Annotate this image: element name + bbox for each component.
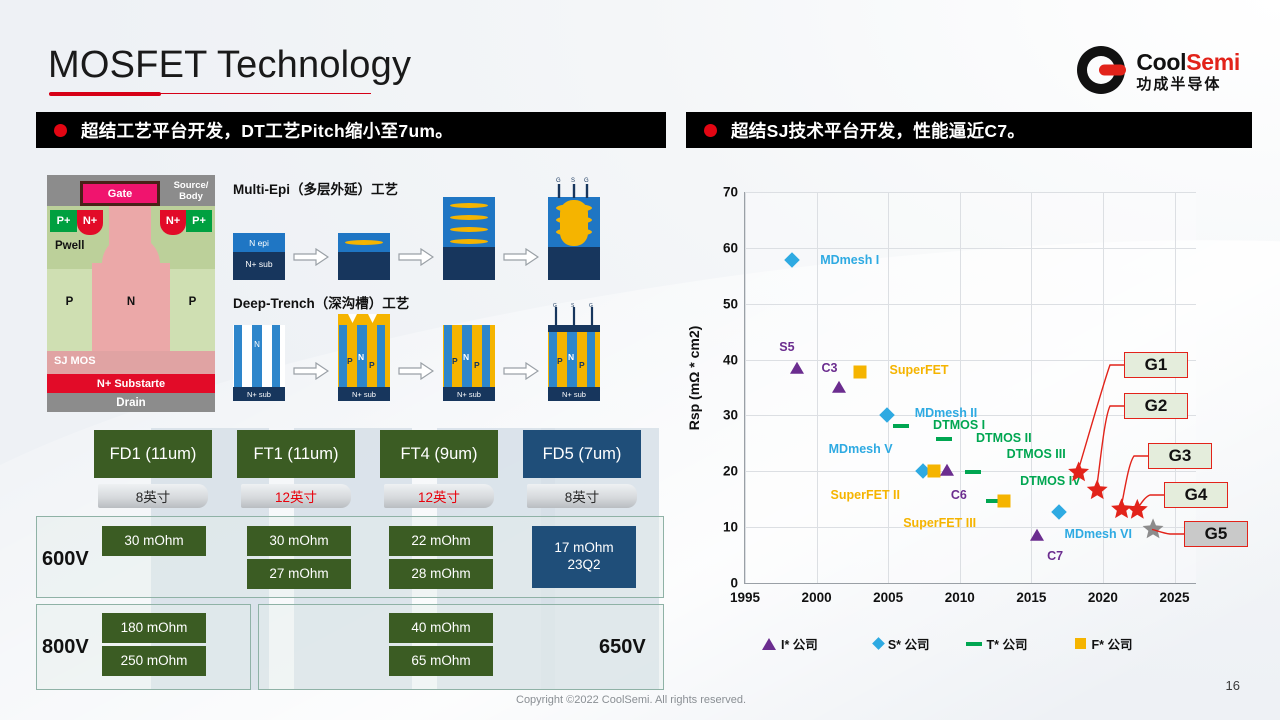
cell-value: 40 mOhm	[411, 620, 470, 637]
flow-arrow-icon	[293, 248, 329, 266]
flow-arrow-icon	[293, 362, 329, 380]
dt-label-p: P	[369, 360, 375, 370]
highlight-star-g2-icon	[1087, 479, 1108, 499]
chart-y-tick: 50	[723, 296, 738, 311]
flow-arrow-icon	[503, 248, 539, 266]
slide: MOSFET Technology CoolSemi 功成半导体 超结工艺平台开…	[0, 0, 1280, 720]
cell-value: 30 mOhm	[124, 533, 183, 550]
multi-epi-label-n-epi: N epi	[233, 235, 285, 250]
dt-label-n-sub: N+ sub	[338, 387, 390, 401]
svg-text:S: S	[571, 178, 575, 184]
row-label-650v: 650V	[599, 636, 646, 659]
xsec-label-source-body: Source/ Body	[167, 177, 215, 206]
callout-g1[interactable]: G1	[1124, 352, 1188, 378]
wafer-size-label: 8英寸	[136, 486, 171, 506]
marker-diamond-icon	[872, 637, 885, 650]
highlight-star-g4-icon	[1127, 499, 1148, 519]
multi-epi-terminals-icon: G S G	[552, 175, 598, 204]
dt-label-p: P	[347, 356, 353, 366]
product-name: FT4 (9um)	[400, 445, 477, 464]
multi-epi-title: Multi-Epi（多层外延）工艺	[233, 178, 398, 198]
dt-label-n-sub: N+ sub	[443, 387, 495, 401]
flow-arrow-icon	[398, 248, 434, 266]
product-name: FT1 (11um)	[254, 445, 339, 464]
dt-label-p: P	[579, 360, 585, 370]
callout-g5[interactable]: G5	[1184, 521, 1248, 547]
svg-text:G: G	[556, 178, 561, 184]
legend-item-0: I* 公司	[762, 634, 818, 653]
mosfet-cross-section-diagram: Source/ Body Gate P+ N+ N+ P+ Pwell P N …	[47, 175, 215, 412]
brand-logo: CoolSemi 功成半导体	[1075, 44, 1240, 96]
xsec-label-nplus-right: N+	[160, 210, 186, 232]
cell-600v-ft4-0: 22 mOhm	[389, 526, 493, 556]
chart-y-tick: 30	[723, 408, 738, 423]
flow-arrow-icon	[398, 362, 434, 380]
chart-x-tick: 2025	[1159, 590, 1189, 605]
chart-x-tick: 2000	[802, 590, 832, 605]
chart-x-tick: 2020	[1088, 590, 1118, 605]
cell-650v-ft4-1: 65 mOhm	[389, 646, 493, 676]
cell-600v-ft1-1: 27 mOhm	[247, 559, 351, 589]
dt-label-p: P	[474, 360, 480, 370]
xsec-label-pplus-left: P+	[50, 210, 77, 232]
chart-x-tick: 1995	[730, 590, 760, 605]
logo-text-cn: 功成半导体	[1136, 77, 1240, 92]
wafer-size-label: 12英寸	[418, 486, 460, 506]
dt-label-n: N	[252, 340, 262, 349]
title-underline-thick	[49, 92, 161, 96]
section-header-right-text: 超结SJ技术平台开发，性能逼近C7。	[731, 118, 1025, 143]
cell-600v-ft4-1: 28 mOhm	[389, 559, 493, 589]
cell-value: 65 mOhm	[411, 653, 470, 670]
chart-y-tick: 20	[723, 464, 738, 479]
wafer-size-3: 8英寸	[527, 484, 637, 508]
section-header-left: 超结工艺平台开发，DT工艺Pitch缩小至7um。	[36, 112, 666, 148]
row-label-800v: 800V	[42, 636, 89, 659]
rsp-vs-year-scatter-chart: Rsp (mΩ * cm2) 1995200020052010201520202…	[686, 168, 1252, 668]
logo-text-cool: Cool	[1136, 49, 1186, 75]
row-label-600v: 600V	[42, 548, 89, 571]
chart-y-tick: 70	[723, 185, 738, 200]
chart-y-axis-label: Rsp (mΩ * cm2)	[686, 326, 702, 431]
page-title: MOSFET Technology	[48, 44, 411, 87]
multi-epi-label-n-sub: N+ sub	[233, 256, 285, 271]
section-header-right: 超结SJ技术平台开发，性能逼近C7。	[686, 112, 1252, 148]
svg-text:G: G	[589, 303, 593, 309]
chart-y-tick: 0	[730, 576, 738, 591]
cell-600v-ft1-0: 30 mOhm	[247, 526, 351, 556]
svg-text:G: G	[584, 178, 589, 184]
bullet-dot-icon	[54, 124, 67, 137]
callout-g4[interactable]: G4	[1164, 482, 1228, 508]
cell-600v-fd1-0: 30 mOhm	[102, 526, 206, 556]
dt-label-n: N	[568, 352, 574, 362]
xsec-label-p-left: P	[47, 293, 92, 311]
copyright-text: Copyright ©2022 CoolSemi. All rights res…	[516, 694, 746, 706]
xsec-label-n-center: N	[92, 293, 170, 311]
cell-value: 250 mOhm	[121, 653, 188, 670]
xsec-label-pwell: Pwell	[55, 240, 84, 252]
marker-dash-icon	[966, 642, 982, 646]
xsec-label-drain: Drain	[47, 393, 215, 412]
bullet-dot-icon	[704, 124, 717, 137]
chart-legend: I* 公司S* 公司T* 公司F* 公司	[762, 634, 1132, 653]
xsec-label-substrate: N+ Substarte	[47, 374, 215, 393]
xsec-label-gate: Gate	[80, 181, 160, 206]
highlight-star-g1-icon	[1068, 461, 1089, 481]
wafer-size-label: 12英寸	[275, 486, 317, 506]
cell-800v-fd1-1: 250 mOhm	[102, 646, 206, 676]
logo-text-semi: Semi	[1186, 49, 1240, 75]
marker-triangle-icon	[762, 638, 776, 650]
product-header-0[interactable]: FD1 (11um)	[94, 430, 212, 478]
product-matrix-table: FD1 (11um) FT1 (11um) FT4 (9um) FD5 (7um…	[36, 428, 666, 690]
product-name: FD5 (7um)	[543, 445, 622, 464]
xsec-label-pplus-right: P+	[186, 210, 212, 232]
callout-g2[interactable]: G2	[1124, 393, 1188, 419]
dt-label-n: N	[463, 352, 469, 362]
dt-label-n-sub: N+ sub	[233, 387, 285, 401]
chart-x-tick: 2015	[1016, 590, 1046, 605]
wafer-size-2: 12英寸	[384, 484, 494, 508]
chart-y-tick: 60	[723, 240, 738, 255]
svg-text:G: G	[553, 303, 557, 309]
dt-label-p: P	[557, 356, 563, 366]
cell-value: 30 mOhm	[269, 533, 328, 550]
cell-value: 17 mOhm 23Q2	[554, 540, 613, 574]
page-number: 16	[1226, 678, 1240, 693]
wafer-size-0: 8英寸	[98, 484, 208, 508]
legend-label: I* 公司	[781, 634, 818, 653]
product-header-2[interactable]: FT4 (9um)	[380, 430, 498, 478]
dt-label-p: P	[452, 356, 458, 366]
product-name: FD1 (11um)	[110, 445, 197, 464]
cell-value: 22 mOhm	[411, 533, 470, 550]
legend-label: S* 公司	[888, 634, 930, 653]
marker-square-icon	[1075, 638, 1086, 649]
chart-x-tick: 2010	[945, 590, 975, 605]
xsec-label-sj-mos: SJ MOS	[54, 355, 96, 367]
highlight-star-g3-icon	[1111, 498, 1132, 518]
wafer-size-1: 12英寸	[241, 484, 351, 508]
xsec-label-p-right: P	[170, 293, 215, 311]
callout-g3[interactable]: G3	[1148, 443, 1212, 469]
deep-trench-terminals-icon: G S G	[550, 303, 600, 332]
wafer-size-label: 8英寸	[565, 486, 600, 506]
legend-label: T* 公司	[987, 634, 1028, 653]
flow-arrow-icon	[503, 362, 539, 380]
chart-y-tick: 40	[723, 352, 738, 367]
cell-600v-fd5-0: 17 mOhm 23Q2	[532, 526, 636, 588]
section-header-left-text: 超结工艺平台开发，DT工艺Pitch缩小至7um。	[81, 118, 453, 143]
cell-800v-fd1-0: 180 mOhm	[102, 613, 206, 643]
highlight-star-g5-icon	[1143, 518, 1164, 538]
coolsemi-mark-icon	[1075, 44, 1127, 96]
chart-plot-area: 1995200020052010201520202025010203040506…	[744, 192, 1196, 584]
legend-label: F* 公司	[1091, 634, 1132, 653]
cell-value: 28 mOhm	[411, 566, 470, 583]
chart-x-tick: 2005	[873, 590, 903, 605]
legend-item-1: S* 公司	[874, 634, 930, 653]
dt-label-n: N	[358, 352, 364, 362]
legend-item-2: T* 公司	[966, 634, 1028, 653]
highlight-star-layer	[745, 192, 1196, 583]
cell-value: 180 mOhm	[121, 620, 188, 637]
xsec-label-nplus-left: N+	[77, 210, 103, 232]
product-header-3[interactable]: FD5 (7um)	[523, 430, 641, 478]
chart-y-tick: 10	[723, 520, 738, 535]
cell-value: 27 mOhm	[269, 566, 328, 583]
legend-item-3: F* 公司	[1075, 634, 1132, 653]
dt-label-n-sub: N+ sub	[548, 387, 600, 401]
deep-trench-title: Deep-Trench（深沟槽）工艺	[233, 292, 409, 312]
product-header-1[interactable]: FT1 (11um)	[237, 430, 355, 478]
cell-650v-ft4-0: 40 mOhm	[389, 613, 493, 643]
